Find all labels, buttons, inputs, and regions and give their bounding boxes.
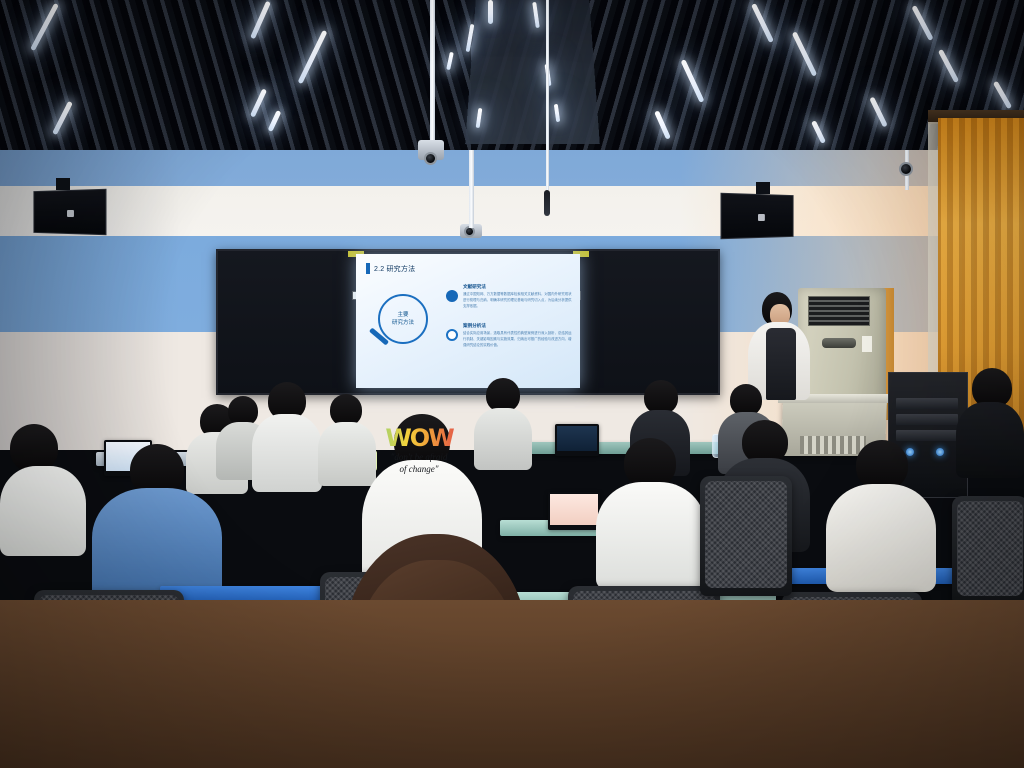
chair[interactable] [700,476,792,596]
shirt-slogan-line2: of change" [376,464,462,476]
monitor-screen [557,426,597,451]
student [92,444,222,604]
camera-pole [469,150,474,228]
student-torso [474,408,532,470]
student-head [856,440,908,490]
slide-title-accent [366,263,370,274]
magnifier-graphic: 主要 研究方法 [378,294,428,344]
magnifier-circle: 主要 研究方法 [378,294,428,344]
ceiling-camera-lens [424,152,437,165]
right-wall-speaker [721,193,794,239]
rack-led-indicator [936,448,944,456]
shirt-slogan-line1: "don't be afraid [376,452,462,464]
chair-mesh-back [957,501,1023,596]
student-torso [956,402,1024,478]
projection-screen[interactable]: 2.2 研究方法 主要 研究方法 文献研究法 通过中国知网、万方数据等数据库检索… [356,254,580,388]
student [826,440,936,590]
student [252,382,322,492]
air-conditioner-panel[interactable] [822,338,856,348]
laptop [548,492,600,530]
student-head [624,438,676,488]
student-torso [252,414,322,492]
chair-mesh-back [705,481,787,588]
left-wall-speaker [33,189,106,235]
air-conditioner-label [862,336,872,352]
chair[interactable] [952,496,1024,604]
slide-block: 文献研究法 通过中国知网、万方数据等数据库检索相关文献资料，对国内外研究现状进行… [446,284,572,310]
shirt-wow-text: WOW [376,424,462,452]
student-torso [826,484,936,592]
student-torso [596,482,706,590]
camera-drop-pipe [430,0,435,142]
slide-title: 2.2 研究方法 [374,264,415,274]
magnifier-line1: 主要 [397,311,408,319]
slide-block: 案例分析法 结合实际应用场景，选取具有代表性的典型案例进行深入剖析，总结其运行机… [446,323,572,349]
shirt-graphic: WOW "don't be afraid of change" [376,424,462,475]
cloud-icon [446,329,458,341]
student-torso [0,466,86,556]
slide-block-heading: 文献研究法 [463,284,572,290]
ceiling-light [488,0,493,24]
document-person-icon [446,290,458,302]
monitor [555,424,599,456]
hanging-microphone-icon [544,190,550,216]
speaker-mount [756,182,770,194]
air-conditioner-grille [808,296,870,326]
classroom-scene: 2.2 研究方法 主要 研究方法 文献研究法 通过中国知网、万方数据等数据库检索… [0,0,1024,768]
laptop-screen [550,494,598,525]
student [596,438,706,588]
microphone-cable [546,0,549,190]
ceiling [0,0,1024,152]
student [474,378,532,470]
floor [0,600,1024,768]
rack-shelf [896,414,958,425]
slide-content-column: 文献研究法 通过中国知网、万方数据等数据库检索相关文献资料，对国内外研究现状进行… [446,284,572,362]
slide-block-heading: 案例分析法 [463,323,572,329]
student [956,368,1024,478]
slide-block-body: 通过中国知网、万方数据等数据库检索相关文献资料，对国内外研究现状进行梳理与归纳，… [463,292,572,310]
slide-title-bar: 2.2 研究方法 [366,263,415,274]
student [0,424,86,554]
student-head [10,424,58,472]
speaker-mount [56,178,70,190]
rack-shelf [896,398,958,409]
student-head [486,378,520,412]
student-head [644,380,678,414]
corner-camera-lens [899,162,913,176]
slide-block-body: 结合实际应用场景，选取具有代表性的典型案例进行深入剖析，总结其运行机制、关键影响… [463,331,572,349]
magnifier-line2: 研究方法 [392,319,414,327]
ceiling-center-panel [465,0,599,144]
